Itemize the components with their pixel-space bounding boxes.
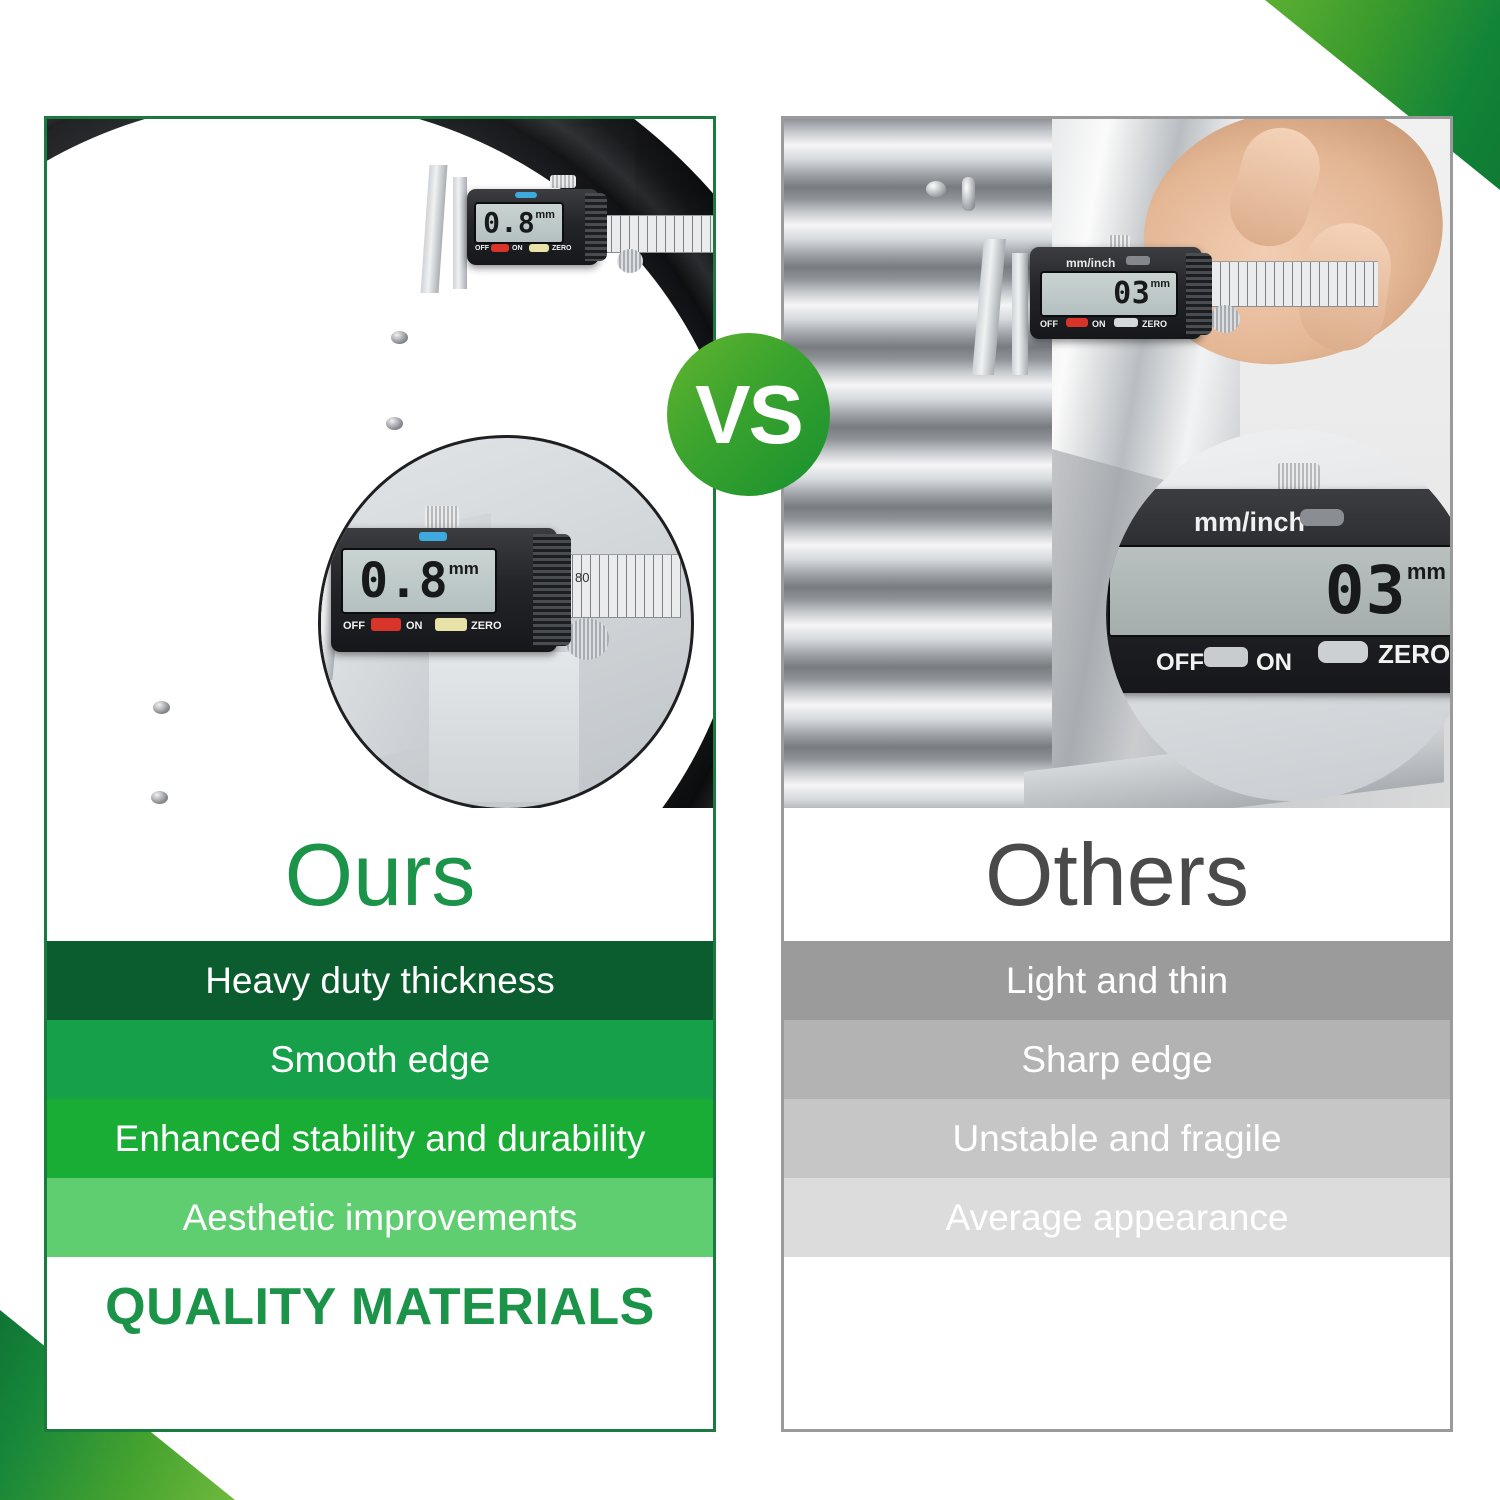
caliper-on-label: ON bbox=[512, 245, 523, 252]
others-footer bbox=[784, 1257, 1450, 1357]
bolt bbox=[153, 701, 170, 714]
ours-feature-label: Enhanced stability and durability bbox=[115, 1118, 646, 1160]
caliper-value: 03 bbox=[1325, 558, 1407, 624]
caliper-upper-jaw bbox=[421, 165, 448, 293]
caliper-mode-button[interactable] bbox=[1126, 256, 1150, 265]
caliper-display: 0.8mm bbox=[474, 202, 564, 244]
others-feature-row: Unstable and fragile bbox=[784, 1099, 1450, 1178]
caliper-power-switch[interactable] bbox=[371, 618, 401, 631]
ours-title: Ours bbox=[285, 831, 476, 919]
others-feature-row: Average appearance bbox=[784, 1178, 1450, 1257]
caliper-mode-label: mm/inch bbox=[1066, 256, 1115, 270]
bolt bbox=[926, 181, 946, 197]
others-magnifier: mm/inch 03mm OFF ON ZERO bbox=[1106, 429, 1450, 801]
ours-footer: QUALITY MATERIALS bbox=[47, 1257, 713, 1357]
ours-feature-row: Heavy duty thickness bbox=[47, 941, 713, 1020]
caliper-knob bbox=[550, 175, 576, 188]
bolt bbox=[151, 791, 168, 804]
caliper-value: 0.8 bbox=[359, 557, 449, 605]
caliper-off-label: OFF bbox=[1040, 319, 1058, 329]
vs-badge: VS bbox=[667, 333, 830, 496]
ours-feature-list: Heavy duty thickness Smooth edge Enhance… bbox=[47, 941, 713, 1257]
caliper-knob bbox=[425, 506, 459, 528]
caliper-value: 03 bbox=[1113, 279, 1150, 309]
others-panel: mm/inch 03mm OFF ON ZERO bbox=[781, 116, 1453, 1432]
caliper-off-label: OFF bbox=[475, 245, 489, 252]
others-title-row: Others bbox=[784, 808, 1450, 941]
caliper-zero-button[interactable] bbox=[1114, 318, 1138, 327]
caliper-scale bbox=[563, 554, 681, 618]
caliper-on-label: ON bbox=[1092, 319, 1106, 329]
caliper-thumbwheel bbox=[565, 618, 609, 660]
caliper-power-switch[interactable] bbox=[491, 244, 509, 252]
ours-feature-label: Aesthetic improvements bbox=[183, 1197, 578, 1239]
caliper-thumbwheel bbox=[1210, 305, 1240, 333]
caliper-grip bbox=[585, 193, 607, 261]
others-feature-label: Unstable and fragile bbox=[952, 1118, 1281, 1160]
caliper-display: 0.8mm bbox=[341, 548, 497, 614]
ours-panel: 0.8mm OFF ON ZERO 80 bbox=[44, 116, 716, 1432]
others-feature-list: Light and thin Sharp edge Unstable and f… bbox=[784, 941, 1450, 1257]
caliper-top-right: mm/inch 03mm OFF ON ZERO bbox=[978, 231, 1378, 381]
ours-feature-label: Heavy duty thickness bbox=[205, 960, 555, 1002]
caliper-scale bbox=[1202, 261, 1378, 307]
caliper-on-label: ON bbox=[406, 620, 423, 632]
vs-label: VS bbox=[695, 373, 802, 456]
caliper-mode-button[interactable] bbox=[515, 192, 537, 198]
comparison-infographic: 0.8mm OFF ON ZERO 80 bbox=[0, 0, 1500, 1500]
caliper-unit: mm bbox=[535, 209, 555, 221]
caliper-on-label: ON bbox=[1256, 649, 1292, 677]
caliper-mode-label: mm/inch bbox=[1194, 507, 1305, 538]
others-product-photo: mm/inch 03mm OFF ON ZERO bbox=[784, 119, 1450, 808]
ours-feature-row: Smooth edge bbox=[47, 1020, 713, 1099]
caliper-zero-button[interactable] bbox=[1318, 641, 1368, 663]
caliper-fixed-jaw bbox=[1012, 253, 1028, 375]
bolt bbox=[391, 331, 408, 344]
caliper-jaw bbox=[972, 239, 1006, 375]
ours-title-row: Ours bbox=[47, 808, 713, 941]
corrugated-steel-wall bbox=[784, 119, 1054, 808]
caliper-unit: mm bbox=[1407, 559, 1446, 585]
caliper-unit: mm bbox=[449, 559, 479, 579]
caliper-zero-button[interactable] bbox=[435, 618, 467, 631]
ours-feature-row: Enhanced stability and durability bbox=[47, 1099, 713, 1178]
others-feature-label: Light and thin bbox=[1006, 960, 1228, 1002]
caliper-magnified-left: 80 0.8mm OFF ON ZERO bbox=[325, 512, 685, 702]
others-feature-row: Light and thin bbox=[784, 941, 1450, 1020]
quality-materials-label: QUALITY MATERIALS bbox=[105, 1277, 655, 1337]
ours-feature-label: Smooth edge bbox=[270, 1039, 490, 1081]
caliper-grip bbox=[1186, 253, 1212, 335]
caliper-body: 0.8mm OFF ON ZERO bbox=[331, 528, 557, 652]
bolt bbox=[386, 417, 403, 430]
caliper-mode-button[interactable] bbox=[1300, 509, 1344, 526]
caliper-display: 03mm bbox=[1040, 271, 1178, 317]
caliper-power-switch[interactable] bbox=[1204, 647, 1248, 667]
others-feature-label: Sharp edge bbox=[1021, 1039, 1212, 1081]
caliper-zero-label: ZERO bbox=[1142, 319, 1167, 329]
caliper-thumbwheel bbox=[617, 249, 643, 273]
caliper-display: 03mm bbox=[1108, 545, 1450, 637]
caliper-scale-tick: 80 bbox=[575, 570, 589, 585]
caliper-body: 0.8mm OFF ON ZERO bbox=[467, 189, 599, 265]
caliper-top-left: 0.8mm OFF ON ZERO bbox=[425, 163, 713, 303]
caliper-zero-label: ZERO bbox=[1378, 639, 1450, 670]
caliper-zero-label: ZERO bbox=[552, 245, 571, 252]
ours-feature-row: Aesthetic improvements bbox=[47, 1178, 713, 1257]
caliper-off-label: OFF bbox=[343, 620, 365, 632]
ours-product-photo: 0.8mm OFF ON ZERO 80 bbox=[47, 119, 713, 808]
others-feature-label: Average appearance bbox=[946, 1197, 1289, 1239]
caliper-mode-button[interactable] bbox=[419, 532, 447, 541]
caliper-unit: mm bbox=[1150, 278, 1170, 290]
ours-magnifier: 80 0.8mm OFF ON ZERO bbox=[318, 435, 694, 808]
caliper-scale bbox=[593, 215, 713, 253]
caliper-grip bbox=[533, 534, 571, 646]
caliper-power-switch[interactable] bbox=[1066, 318, 1088, 327]
caliper-fixed-jaw bbox=[453, 177, 467, 289]
caliper-knob bbox=[1276, 463, 1320, 491]
caliper-value: 0.8 bbox=[483, 209, 535, 237]
caliper-body: mm/inch 03mm OFF ON ZERO bbox=[1030, 247, 1202, 339]
caliper-magnified-right: mm/inch 03mm OFF ON ZERO bbox=[1106, 467, 1450, 727]
bolt bbox=[962, 177, 975, 211]
others-feature-row: Sharp edge bbox=[784, 1020, 1450, 1099]
caliper-zero-label: ZERO bbox=[471, 620, 502, 632]
caliper-off-label: OFF bbox=[1156, 649, 1204, 677]
caliper-body: mm/inch 03mm OFF ON ZERO bbox=[1106, 489, 1450, 693]
caliper-zero-button[interactable] bbox=[529, 244, 549, 252]
others-title: Others bbox=[985, 831, 1249, 919]
